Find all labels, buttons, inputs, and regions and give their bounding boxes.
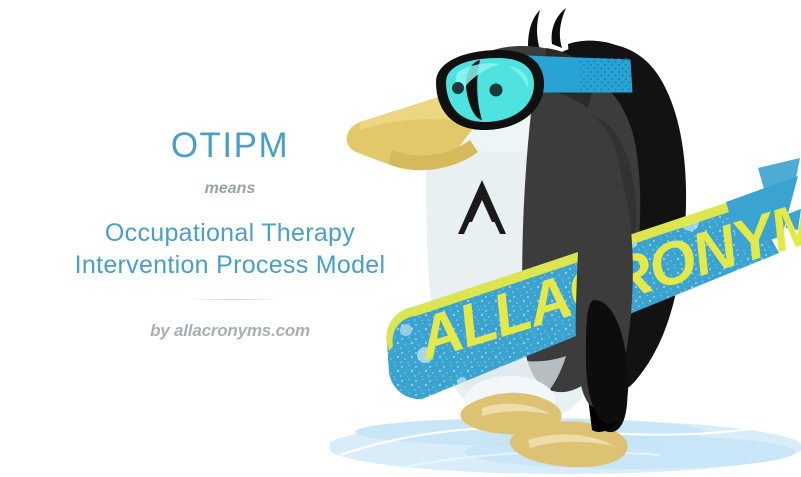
penguin-crest-spikes — [528, 8, 566, 50]
divider-rule — [145, 292, 320, 300]
snowboarding-penguin-illustration: ALLACRONYMS — [330, 0, 801, 477]
acronym-definition-card: OTIPM means Occupational Therapy Interve… — [0, 0, 801, 477]
penguin-front-leg — [576, 150, 633, 424]
